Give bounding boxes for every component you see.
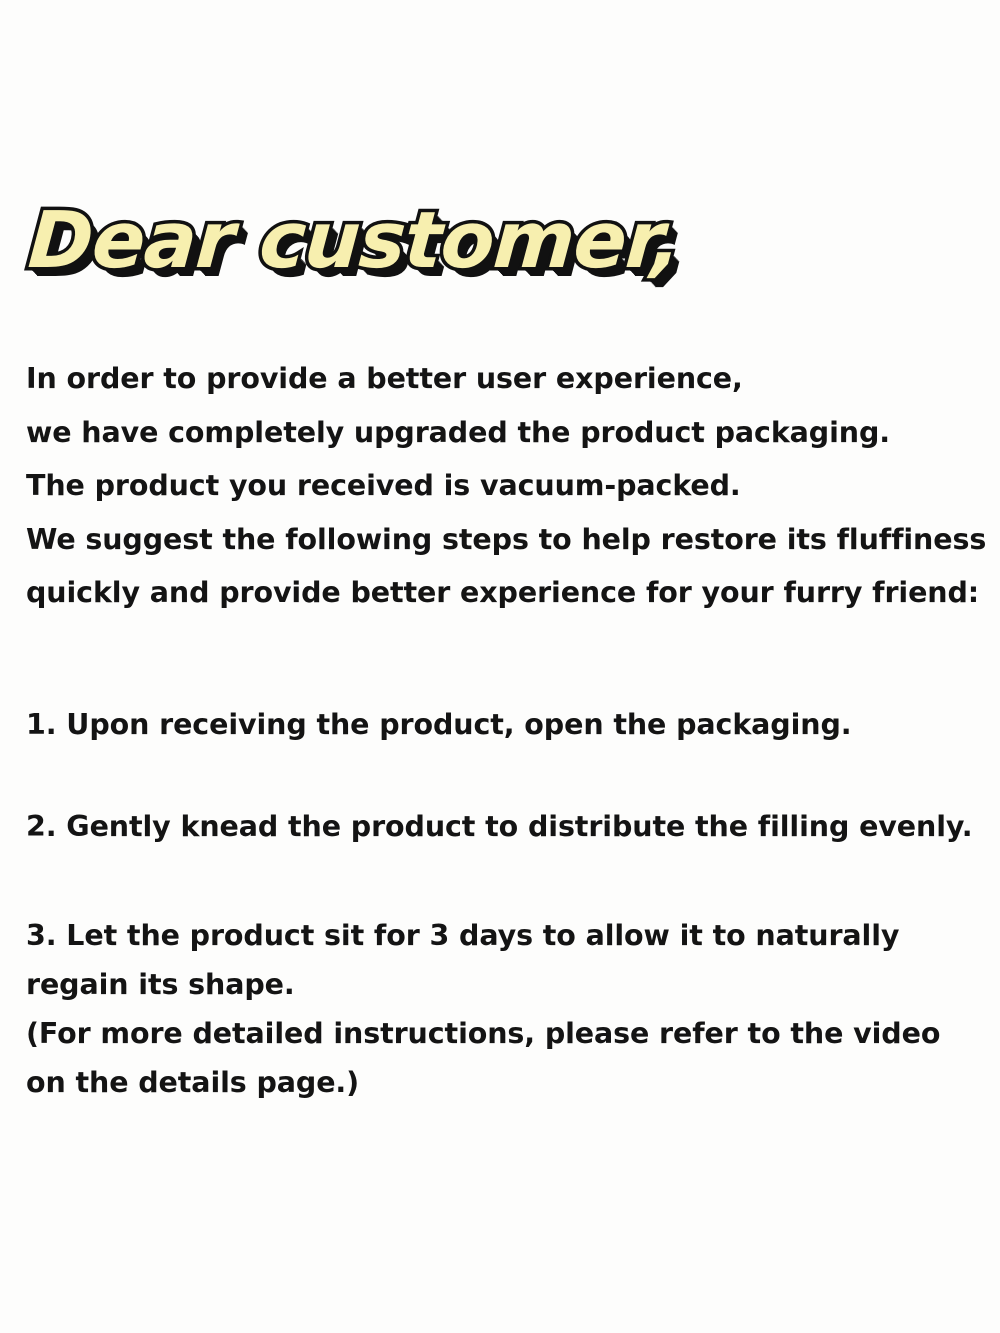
step-line: regain its shape. — [26, 960, 986, 1009]
list-item: 3. Let the product sit for 3 days to all… — [26, 911, 986, 1107]
list-item: 2. Gently knead the product to distribut… — [26, 802, 986, 851]
step-line: 3. Let the product sit for 3 days to all… — [26, 911, 986, 960]
heading-container: Dear customer, — [26, 202, 726, 322]
step-line: (For more detailed instructions, please … — [26, 1009, 986, 1058]
page-title: Dear customer, — [26, 202, 731, 280]
intro-line: quickly and provide better experience fo… — [26, 566, 986, 620]
step-line: 2. Gently knead the product to distribut… — [26, 802, 986, 851]
steps-list: 1. Upon receiving the product, open the … — [26, 700, 986, 1107]
instruction-card: Dear customer, In order to provide a bet… — [0, 0, 1000, 1333]
list-item: 1. Upon receiving the product, open the … — [26, 700, 986, 749]
intro-line: we have completely upgraded the product … — [26, 406, 986, 460]
intro-line: The product you received is vacuum-packe… — [26, 459, 986, 513]
intro-line: We suggest the following steps to help r… — [26, 513, 986, 567]
intro-paragraph: In order to provide a better user experi… — [26, 352, 986, 620]
intro-line: In order to provide a better user experi… — [26, 352, 986, 406]
step-line: 1. Upon receiving the product, open the … — [26, 700, 986, 749]
step-line: on the details page.) — [26, 1058, 986, 1107]
